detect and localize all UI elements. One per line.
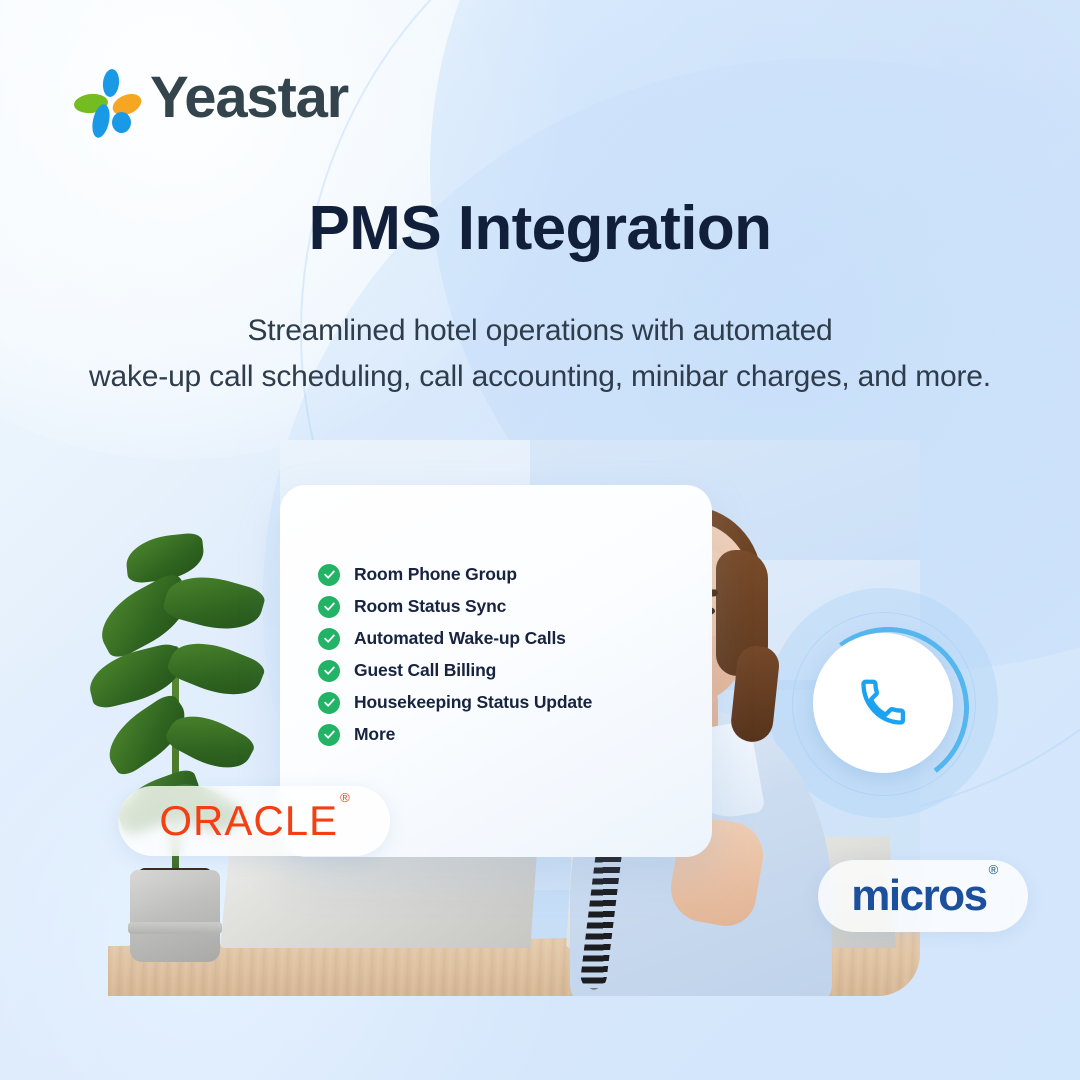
micros-wordmark: micros® — [851, 874, 994, 918]
list-item-label: Housekeeping Status Update — [354, 692, 592, 713]
oracle-label: ORACLE — [159, 797, 338, 844]
plant-pot-base — [128, 922, 222, 934]
page-subtitle: Streamlined hotel operations with automa… — [0, 308, 1080, 399]
page-title: PMS Integration — [0, 196, 1080, 261]
feature-list: Room Phone Group Room Status Sync Automa… — [318, 563, 698, 746]
check-circle-icon — [318, 564, 340, 586]
micros-trademark: ® — [989, 862, 997, 877]
check-circle-icon — [318, 724, 340, 746]
list-item: More — [318, 723, 698, 746]
pinwheel-petal-top — [102, 68, 121, 98]
list-item: Room Phone Group — [318, 563, 698, 586]
list-item: Automated Wake-up Calls — [318, 627, 698, 650]
oracle-wordmark: ORACLE® — [159, 800, 348, 842]
list-item-label: Automated Wake-up Calls — [354, 628, 566, 649]
promo-graphic-canvas: Yeastar PMS Integration Streamlined hote… — [0, 0, 1080, 1080]
hero-scene: Room Phone Group Room Status Sync Automa… — [108, 440, 920, 996]
check-circle-icon — [318, 692, 340, 714]
person-ponytail — [729, 644, 781, 744]
micros-label: micros — [851, 871, 986, 920]
partner-badge-micros[interactable]: micros® — [818, 860, 1028, 932]
list-item-label: Guest Call Billing — [354, 660, 496, 681]
yeastar-pinwheel-icon — [76, 68, 136, 132]
list-item: Housekeeping Status Update — [318, 691, 698, 714]
list-item: Guest Call Billing — [318, 659, 698, 682]
check-circle-icon — [318, 628, 340, 650]
list-item-label: More — [354, 724, 395, 745]
subtitle-line-2: wake-up call scheduling, call accounting… — [0, 354, 1080, 400]
phone-handset-icon — [857, 677, 909, 729]
list-item-label: Room Status Sync — [354, 596, 506, 617]
subtitle-line-1: Streamlined hotel operations with automa… — [247, 314, 832, 347]
check-circle-icon — [318, 596, 340, 618]
list-item-label: Room Phone Group — [354, 564, 517, 585]
yeastar-logo[interactable]: Yeastar — [76, 64, 348, 136]
plant-pot — [130, 870, 220, 962]
partner-badge-oracle[interactable]: ORACLE® — [118, 786, 390, 856]
logo-wordmark: Yeastar — [150, 69, 348, 132]
pinwheel-petal-bottom-right — [112, 112, 131, 133]
plant-leaf — [165, 630, 268, 707]
check-circle-icon — [318, 660, 340, 682]
list-item: Room Status Sync — [318, 595, 698, 618]
oracle-trademark: ® — [340, 790, 351, 805]
